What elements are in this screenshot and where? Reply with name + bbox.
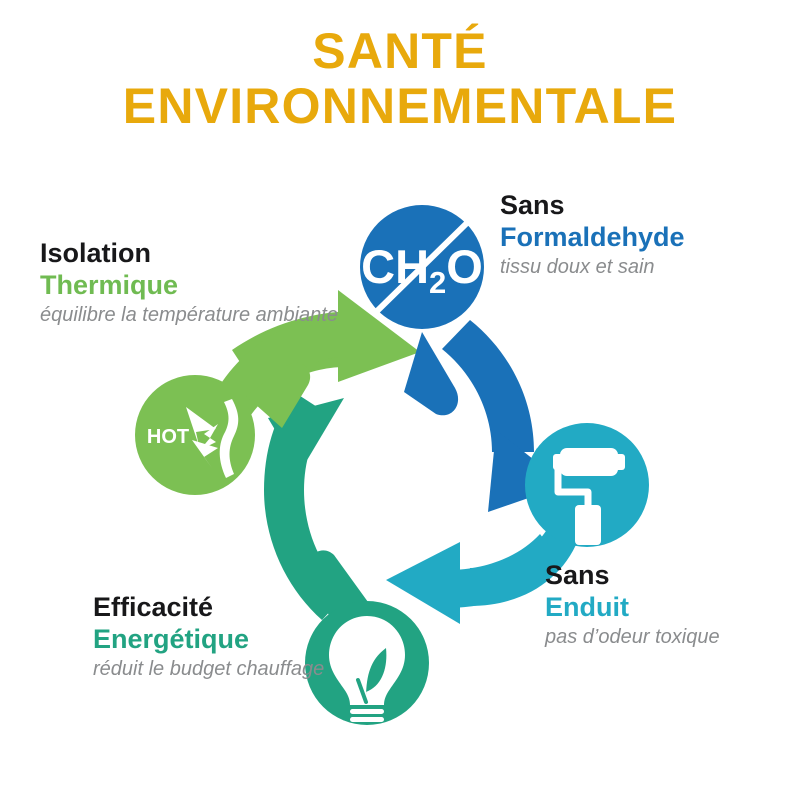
callout-ch2o-line1: Sans — [500, 190, 790, 222]
callout-isolation: Isolation Thermique équilibre la tempéra… — [40, 238, 340, 328]
svg-text:HOT: HOT — [147, 426, 189, 448]
callout-efficacite-line3: réduit le budget chauffage — [93, 657, 343, 682]
callout-enduit-line3: pas d’odeur toxique — [545, 625, 795, 650]
infographic-page: SANTÉ ENVIRONNEMENTALE — [0, 0, 800, 800]
callout-efficacite-line2: Energétique — [93, 624, 343, 656]
callout-isolation-line2: Thermique — [40, 270, 340, 302]
callout-ch2o-line2: Formaldehyde — [500, 222, 790, 254]
node-ch2o[interactable]: CH2O — [360, 205, 484, 415]
callout-enduit: Sans Enduit pas d’odeur toxique — [545, 560, 795, 650]
callout-ch2o: Sans Formaldehyde tissu doux et sain — [500, 190, 790, 280]
callout-enduit-line1: Sans — [545, 560, 795, 592]
node-enduit[interactable] — [525, 423, 649, 547]
callout-efficacite-line1: Efficacité — [93, 592, 343, 624]
callout-isolation-line3: équilibre la température ambiante — [40, 303, 340, 328]
callout-enduit-line2: Enduit — [545, 592, 795, 624]
callout-efficacite: Efficacité Energétique réduit le budget … — [93, 592, 343, 682]
callout-isolation-line1: Isolation — [40, 238, 340, 270]
callout-ch2o-line3: tissu doux et sain — [500, 255, 790, 280]
